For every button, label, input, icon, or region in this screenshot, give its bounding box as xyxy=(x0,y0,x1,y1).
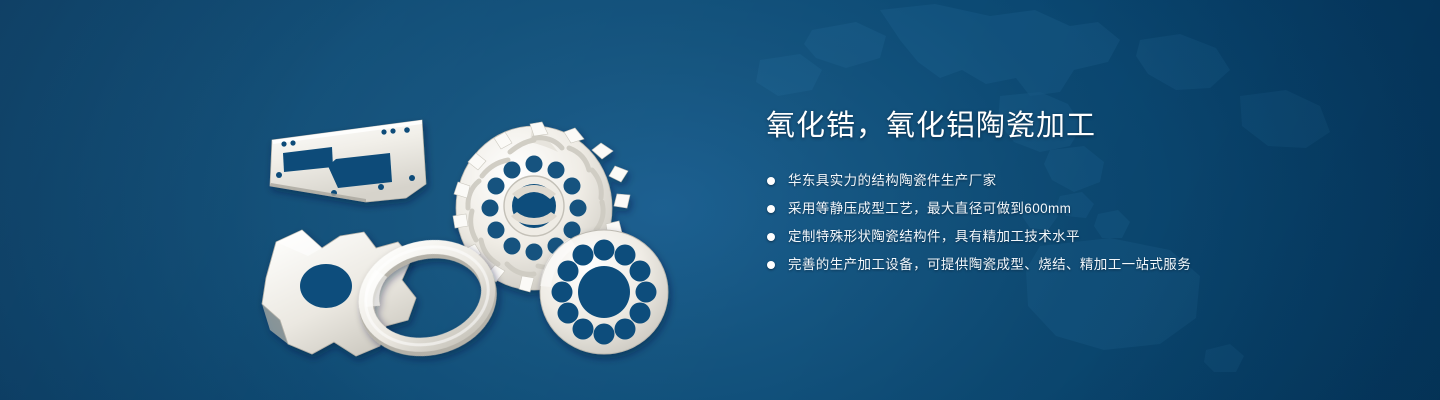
page-title: 氧化锆，氧化铝陶瓷加工 xyxy=(766,108,1386,144)
list-item: 采用等静压成型工艺，最大直径可做到600mm xyxy=(766,198,1386,219)
feature-list: 华东具实力的结构陶瓷件生产厂家 采用等静压成型工艺，最大直径可做到600mm 定… xyxy=(766,170,1386,275)
part-ceramic-perforated-disc xyxy=(540,230,668,354)
list-item-label: 定制特殊形状陶瓷结构件，具有精加工技术水平 xyxy=(788,229,1080,244)
bullet-dot-icon xyxy=(767,233,775,241)
banner-copy: 氧化锆，氧化铝陶瓷加工 华东具实力的结构陶瓷件生产厂家 采用等静压成型工艺，最大… xyxy=(766,108,1386,282)
part-ceramic-plate xyxy=(270,120,426,202)
list-item: 完善的生产加工设备，可提供陶瓷成型、烧结、精加工一站式服务 xyxy=(766,254,1386,275)
list-item-label: 华东具实力的结构陶瓷件生产厂家 xyxy=(788,173,997,188)
bullet-dot-icon xyxy=(767,205,775,213)
list-item: 华东具实力的结构陶瓷件生产厂家 xyxy=(766,170,1386,191)
bullet-dot-icon xyxy=(767,177,775,185)
ceramic-parts-photo xyxy=(236,36,716,382)
list-item-label: 采用等静压成型工艺，最大直径可做到600mm xyxy=(788,201,1071,216)
list-item-label: 完善的生产加工设备，可提供陶瓷成型、烧结、精加工一站式服务 xyxy=(788,257,1191,272)
list-item: 定制特殊形状陶瓷结构件，具有精加工技术水平 xyxy=(766,226,1386,247)
bullet-dot-icon xyxy=(767,261,775,269)
hero-banner: 氧化锆，氧化铝陶瓷加工 华东具实力的结构陶瓷件生产厂家 采用等静压成型工艺，最大… xyxy=(0,0,1440,400)
